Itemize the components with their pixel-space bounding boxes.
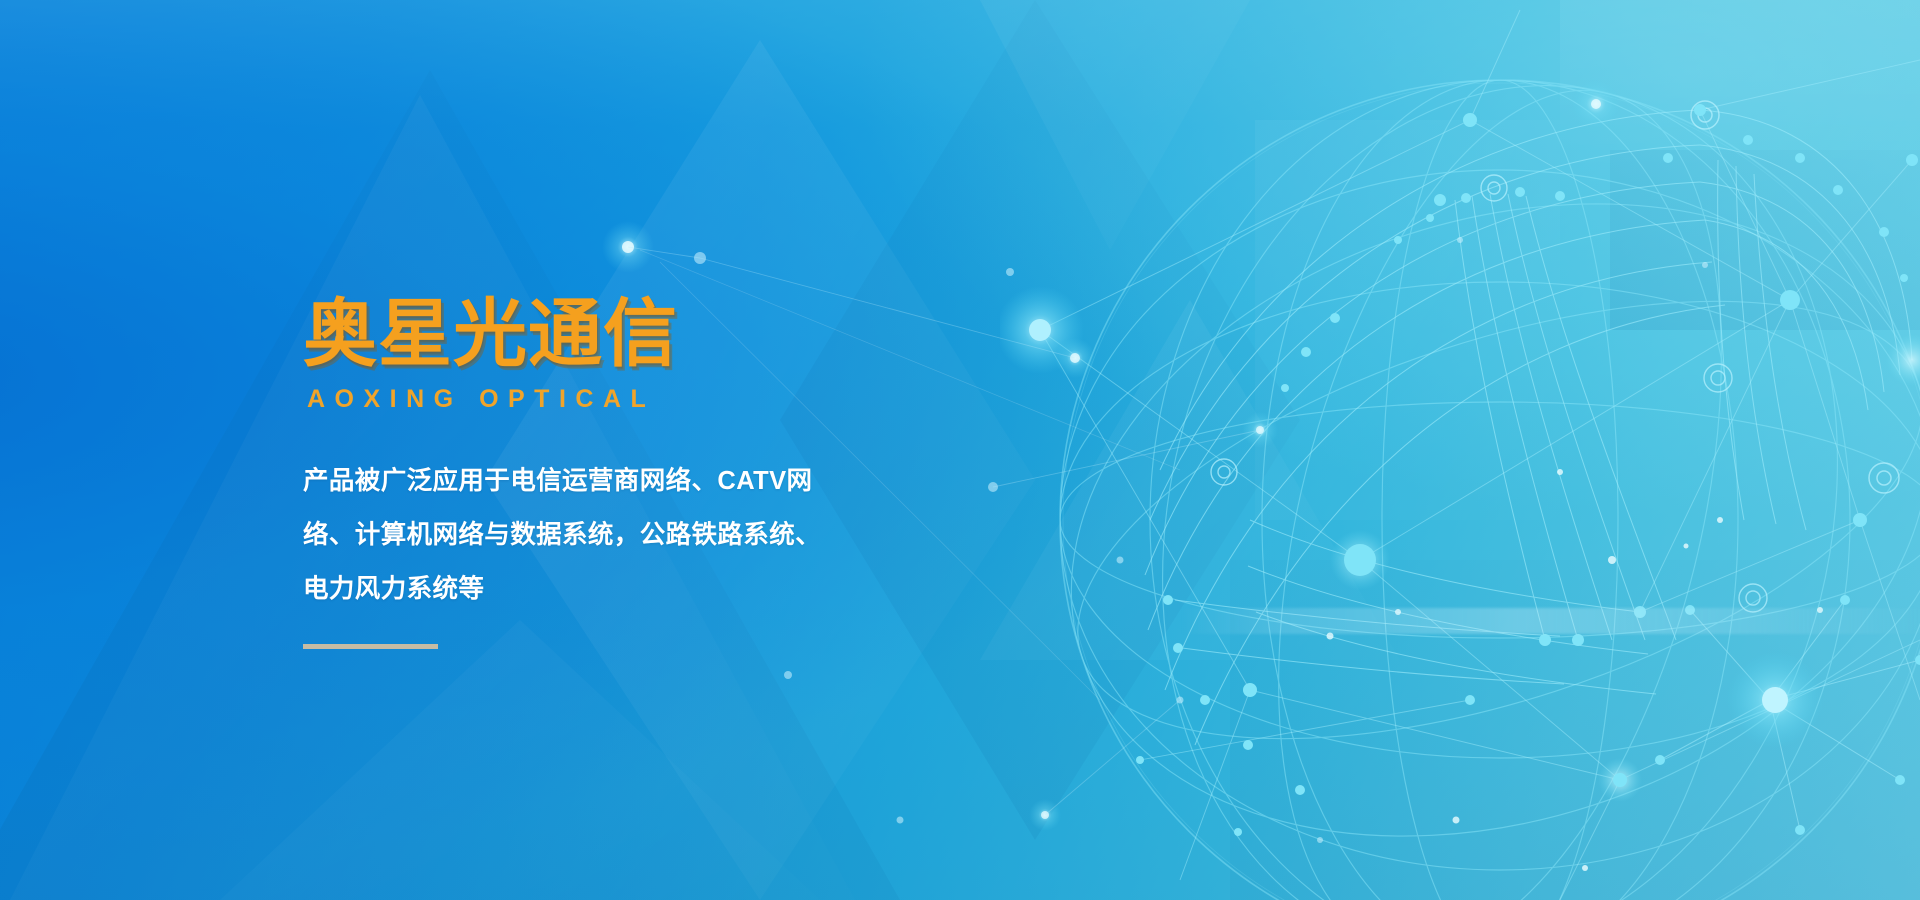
hero-banner: 奥星光通信 AOXING OPTICAL 产品被广泛应用于电信运营商网络、CAT… xyxy=(0,0,1920,900)
description-line: 产品被广泛应用于电信运营商网络、CATV网 xyxy=(303,454,943,508)
brand-title-en: AOXING OPTICAL xyxy=(307,385,1003,414)
hero-description: 产品被广泛应用于电信运营商网络、CATV网 络、计算机网络与数据系统，公路铁路系… xyxy=(303,454,943,616)
description-line: 电力风力系统等 xyxy=(303,562,943,616)
horizontal-light-streak xyxy=(1180,608,1920,634)
brand-title-cn: 奥星光通信 xyxy=(303,296,1003,371)
wireframe-globe-network xyxy=(1000,0,1920,900)
hero-content: 奥星光通信 AOXING OPTICAL 产品被广泛应用于电信运营商网络、CAT… xyxy=(303,296,1003,649)
description-line: 络、计算机网络与数据系统，公路铁路系统、 xyxy=(303,508,943,562)
accent-rule xyxy=(303,644,438,649)
